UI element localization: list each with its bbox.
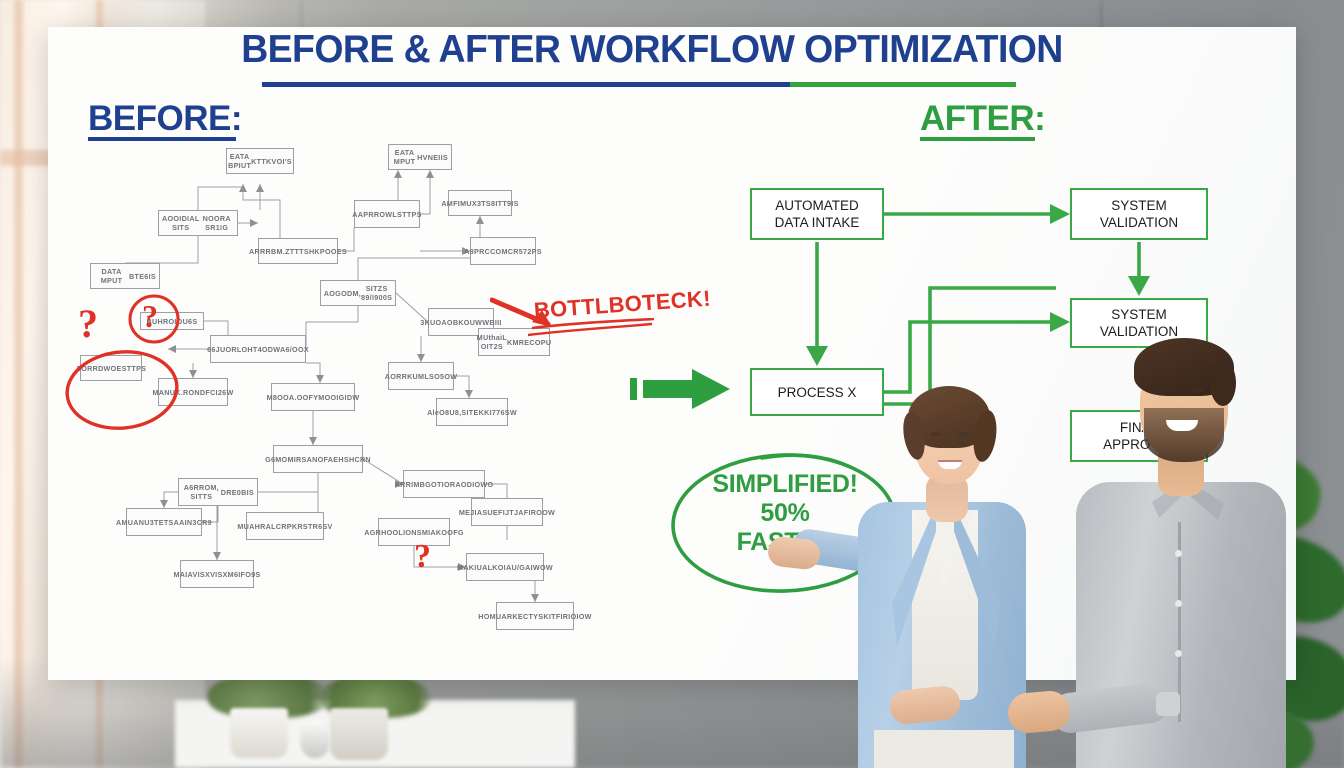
page-title: BEFORE & AFTER WORKFLOW OPTIMIZATION bbox=[241, 28, 971, 72]
before-process-box: AAPRROWLSTTPS bbox=[354, 200, 420, 228]
before-process-box: AORRKUMLSO5OW bbox=[388, 362, 454, 390]
before-process-box: EATA MPUTHVNEIIS bbox=[388, 144, 452, 170]
system-validation-1-box: SYSTEMVALIDATION bbox=[1070, 188, 1208, 240]
before-process-box: EATA BPIUTKTTKVOI'S bbox=[226, 148, 294, 174]
plant-pot-left bbox=[230, 708, 288, 758]
before-process-box: DATA MPUTBTE6IS bbox=[90, 263, 160, 289]
question-mark-annotation-3: ? bbox=[414, 538, 431, 576]
before-process-box: AMFIMUX3TS8ITT9IS bbox=[448, 190, 512, 216]
red-circle-annotation-1 bbox=[62, 345, 182, 435]
window-frame-vertical bbox=[14, 0, 23, 768]
question-mark-annotation-2: ? bbox=[142, 298, 158, 335]
before-process-box: MUAHRALCRPKRSTR6SV bbox=[246, 512, 324, 540]
before-process-box: ARRRBM.ZTTTSHKPOOES bbox=[258, 238, 338, 264]
question-mark-annotation-1: ? bbox=[78, 300, 98, 347]
title-underline bbox=[262, 82, 1016, 87]
after-heading: AFTER: bbox=[920, 99, 1045, 139]
person-man bbox=[1060, 300, 1310, 768]
before-process-box: AMUANU3TETSAAIN3CR9 bbox=[126, 508, 202, 536]
before-process-box: AOGODM,SITZS 89/I900S bbox=[320, 280, 396, 306]
before-process-box: 66JUORLOHT4ODWA6/OOX bbox=[210, 335, 306, 363]
before-process-box: ARRIMBGOTIORAODIOWO bbox=[403, 470, 485, 498]
automated-data-intake-box: AUTOMATEDDATA INTAKE bbox=[750, 188, 884, 240]
before-process-box: MEJIASUEFIJTJAFIROOW bbox=[471, 498, 543, 526]
before-process-box: M8OOA.OOFYMOOIGIDW bbox=[271, 383, 355, 411]
before-process-box: G6MOMIRSANOFAEHSHCRN bbox=[273, 445, 363, 473]
before-process-box: AOOIDIAL SITSNOORA SR1IG bbox=[158, 210, 238, 236]
plant-pot-mid bbox=[330, 708, 388, 760]
before-process-box: AleO8U8,SITEKKI776SW bbox=[436, 398, 508, 426]
before-process-box: MAKIUALKOIAU/GAIWOW bbox=[466, 553, 544, 581]
before-process-box: A6RROM, SITTSDRE0BIS bbox=[178, 478, 258, 506]
before-process-box: A8PRCCOMCR572PS bbox=[470, 237, 536, 265]
before-process-box: MAIAVISXVISXM6IFO9S bbox=[180, 560, 254, 588]
decor-figurine bbox=[300, 720, 330, 758]
before-heading: BEFORE: bbox=[88, 99, 242, 139]
slide-photo: BEFORE & AFTER WORKFLOW OPTIMIZATION BEF… bbox=[0, 0, 1344, 768]
before-process-box: HOMUARKECTYSKITFIRIOIOW bbox=[496, 602, 574, 630]
after-heading-underline bbox=[920, 137, 1035, 141]
